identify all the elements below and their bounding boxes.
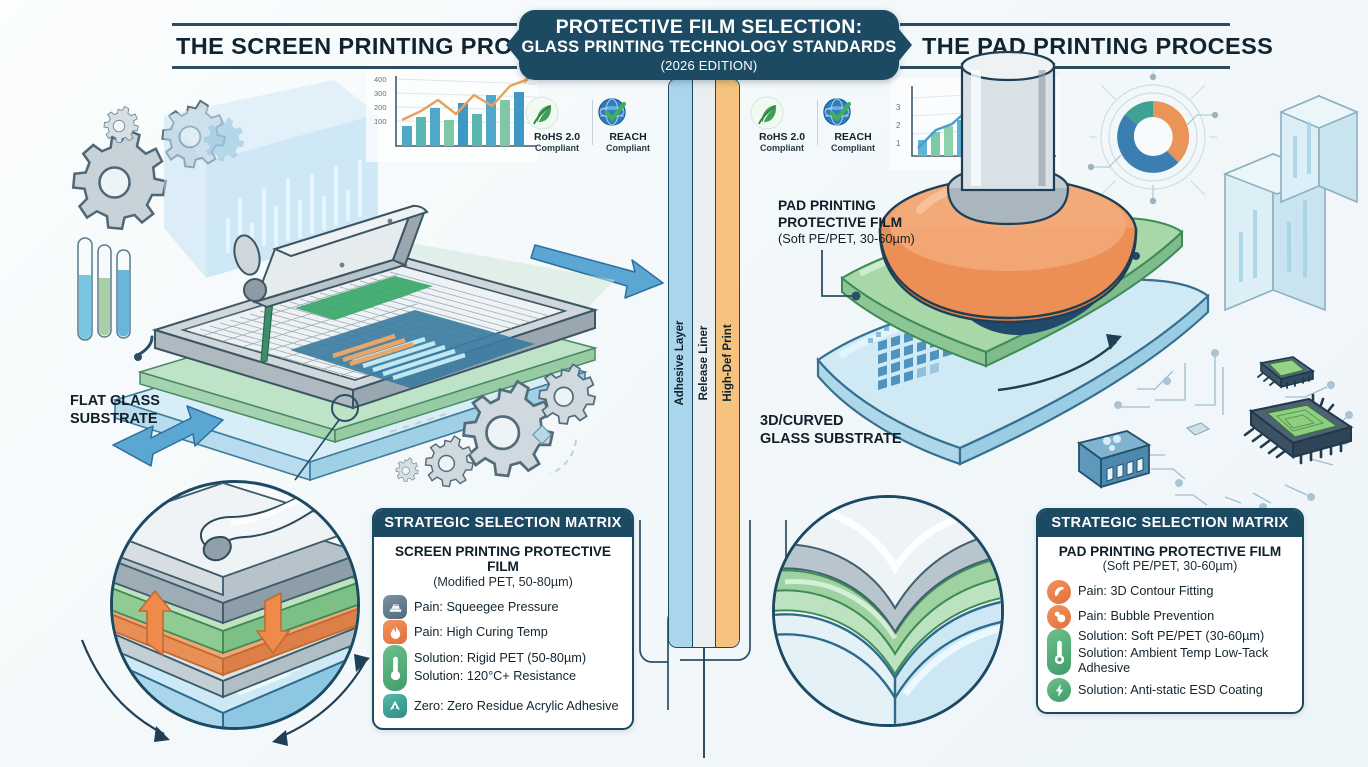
droplet-icon <box>383 694 407 718</box>
curved-layer-detail <box>775 498 1004 727</box>
flat-glass-substrate-label: FLAT GLASS SUBSTRATE <box>70 393 160 428</box>
glass-blocks-decor <box>1215 82 1365 342</box>
svg-text:100: 100 <box>374 117 387 126</box>
matrix-header: STRATEGIC SELECTION MATRIX <box>374 510 632 537</box>
badge-reach-left: REACH Compliant <box>596 96 660 153</box>
matrix-title: PAD PRINTING PROTECTIVE FILM <box>1047 544 1293 559</box>
matrix-row[interactable]: Pain: Bubble Prevention <box>1047 604 1293 629</box>
matrix-row-text: Pain: Squeegee Pressure <box>414 600 559 615</box>
matrix-subtitle: (Modified PET, 50-80µm) <box>383 575 623 589</box>
matrix-panel-pad-printing: STRATEGIC SELECTION MATRIX PAD PRINTING … <box>1036 508 1304 714</box>
pad-film-label-line2: PROTECTIVE FILM <box>778 215 915 232</box>
matrix-row-text: Pain: Bubble Prevention <box>1078 609 1214 624</box>
banner-title-line2: GLASS PRINTING TECHNOLOGY STANDARDS <box>522 38 897 56</box>
bubble-icon <box>1047 605 1071 629</box>
matrix-row-text: Pain: High Curing Temp <box>414 625 548 640</box>
bolt-icon <box>1047 678 1071 702</box>
svg-text:200: 200 <box>374 103 387 112</box>
svg-text:300: 300 <box>374 89 387 98</box>
film-layer-adhesive: Adhesive Layer <box>669 79 692 647</box>
chip-icon-small <box>1258 357 1313 388</box>
matrix-rows: Pain: Squeegee Pressure Pain: High Curin… <box>383 595 623 719</box>
header-rule-left-top <box>172 23 517 26</box>
header-rule-left-bottom <box>172 66 517 69</box>
chip-icon <box>1245 395 1351 463</box>
badge-divider <box>592 100 593 145</box>
matrix-row-text: Solution: Rigid PET (50-80µm) <box>414 651 586 666</box>
banner-notch-right <box>898 28 912 62</box>
film-layer-label: High-Def Print <box>722 324 734 401</box>
film-layer-label: Adhesive Layer <box>674 320 686 405</box>
matrix-row[interactable]: Zero: Zero Residue Acrylic Adhesive <box>383 694 623 719</box>
connector-block-icon <box>1079 431 1149 487</box>
matrix-row-text: Pain: 3D Contour Fitting <box>1078 584 1213 599</box>
title-banner: PROTECTIVE FILM SELECTION: GLASS PRINTIN… <box>519 10 899 80</box>
svg-text:400: 400 <box>374 75 387 84</box>
matrix-row-text: Solution: Anti-static ESD Coating <box>1078 683 1263 698</box>
matrix-rows: Pain: 3D Contour Fitting Pain: Bubble Pr… <box>1047 579 1293 702</box>
matrix-header: STRATEGIC SELECTION MATRIX <box>1038 510 1302 537</box>
matrix-title: SCREEN PRINTING PROTECTIVE FILM <box>383 544 623 575</box>
circuit-chips-decor <box>1055 345 1360 520</box>
curved-glass-substrate-label: 3D/CURVED GLASS SUBSTRATE <box>760 413 902 448</box>
squeegee-icon <box>383 595 407 619</box>
layer-stack-detail <box>113 483 360 730</box>
matrix-row-text: Solution: 120°C+ Resistance <box>414 669 586 684</box>
matrix-subtitle: (Soft PE/PET, 30-60µm) <box>1047 559 1293 573</box>
pad-shaft <box>948 52 1068 224</box>
film-layer-release-liner: Release Liner <box>692 79 716 647</box>
film-layer-label: Release Liner <box>698 326 710 401</box>
flame-icon <box>383 620 407 644</box>
pad-film-label: PAD PRINTING PROTECTIVE FILM (Soft PE/PE… <box>778 198 915 246</box>
banner-edition: (2026 EDITION) <box>661 58 758 73</box>
center-film-stack: Adhesive Layer Release Liner High-Def Pr… <box>668 78 740 648</box>
badge-name: REACH <box>596 131 660 143</box>
matrix-row-text: Solution: Ambient Temp Low-Tack Adhesive <box>1078 646 1283 675</box>
badge-rohs-left: RoHS 2.0 Compliant <box>525 96 589 153</box>
banner-title-line1: PROTECTIVE FILM SELECTION: <box>556 17 863 38</box>
pad-film-label-line3: (Soft PE/PET, 30-60µm) <box>778 231 915 246</box>
gears-decor-center <box>390 370 600 500</box>
matrix-row[interactable]: Solution: Anti-static ESD Coating <box>1047 678 1293 703</box>
banner-notch-left <box>506 28 520 62</box>
matrix-row-text: Solution: Soft PE/PET (30-60µm) <box>1078 629 1283 644</box>
contour-icon <box>1047 580 1071 604</box>
compliance-badges-left: RoHS 2.0 Compliant REACH Compliant <box>525 96 660 153</box>
leaf-icon <box>750 96 784 130</box>
matrix-row[interactable]: Pain: Squeegee Pressure <box>383 595 623 620</box>
left-bar-chart: 400300 200100 <box>366 70 538 162</box>
film-layer-high-def-print: High-Def Print <box>715 79 739 647</box>
center-stem-line <box>703 648 705 758</box>
pad-film-label-line1: PAD PRINTING <box>778 198 915 215</box>
thermometer-icon <box>383 645 407 691</box>
matrix-row-text: Zero: Zero Residue Acrylic Adhesive <box>414 699 619 714</box>
matrix-row[interactable]: Pain: High Curing Temp <box>383 620 623 645</box>
matrix-row[interactable]: Pain: 3D Contour Fitting <box>1047 579 1293 604</box>
badge-name: RoHS 2.0 <box>525 131 589 143</box>
screen-film-magnifier <box>110 480 360 730</box>
thermometer-icon <box>1047 629 1071 675</box>
pad-film-leader-line <box>820 248 890 318</box>
globe-check-icon <box>596 96 630 130</box>
header-rule-right-top <box>900 23 1230 26</box>
infographic-canvas: THE SCREEN PRINTING PROCESS THE PAD PRIN… <box>0 0 1368 767</box>
leaf-icon <box>525 96 559 130</box>
matrix-panel-screen-printing: STRATEGIC SELECTION MATRIX SCREEN PRINTI… <box>372 508 634 730</box>
pad-film-magnifier <box>772 495 1004 727</box>
